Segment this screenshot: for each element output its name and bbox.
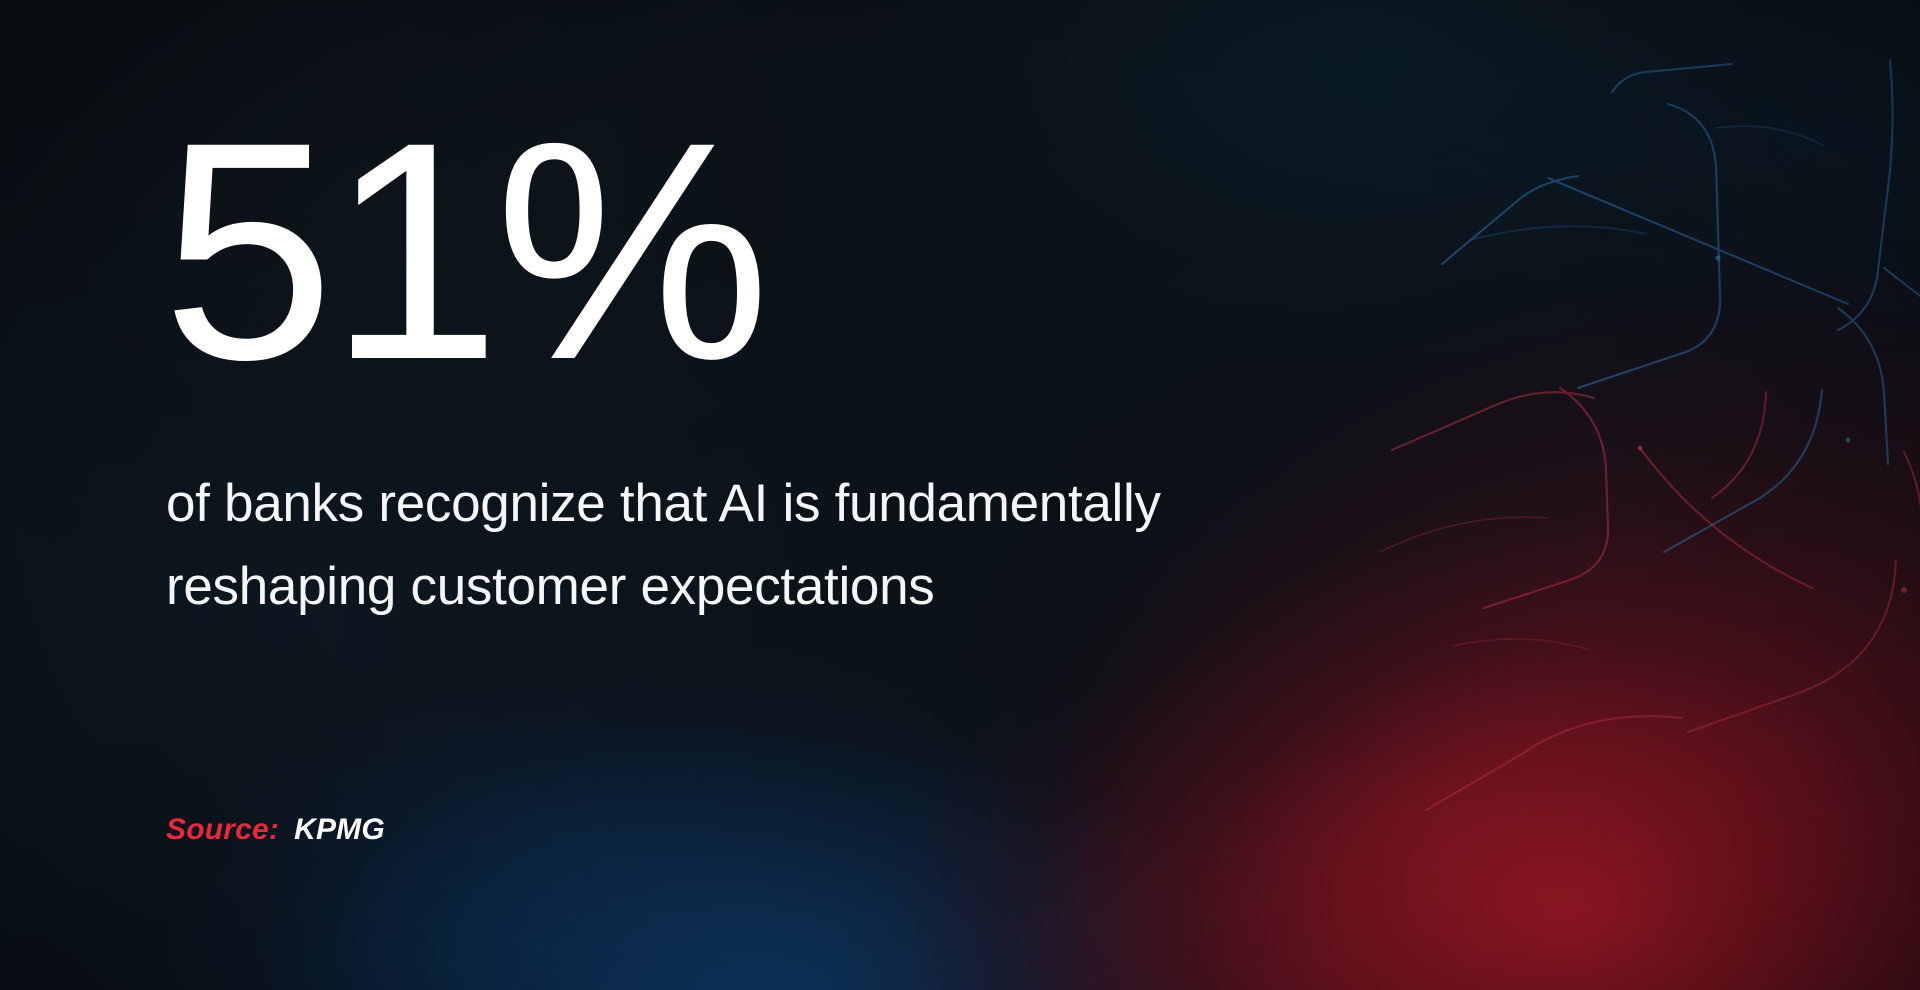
description-line-1: of banks recognize that AI is fundamenta… bbox=[166, 474, 1161, 533]
line-art-nodes-blue bbox=[1715, 255, 1850, 442]
statistic-slide: 51% of banks recognize that AI is fundam… bbox=[0, 0, 1920, 990]
source-value: KPMG bbox=[294, 813, 385, 847]
content-block: 51% of banks recognize that AI is fundam… bbox=[162, 0, 1562, 990]
source-attribution: Source: KPMG bbox=[166, 813, 385, 847]
description-line-2: reshaping customer expectations bbox=[166, 557, 934, 616]
statistic-description: of banks recognize that AI is fundamenta… bbox=[166, 462, 1526, 628]
line-art-nodes bbox=[1638, 446, 1907, 593]
statistic-headline: 51% bbox=[162, 130, 764, 372]
source-label: Source: bbox=[166, 813, 279, 847]
